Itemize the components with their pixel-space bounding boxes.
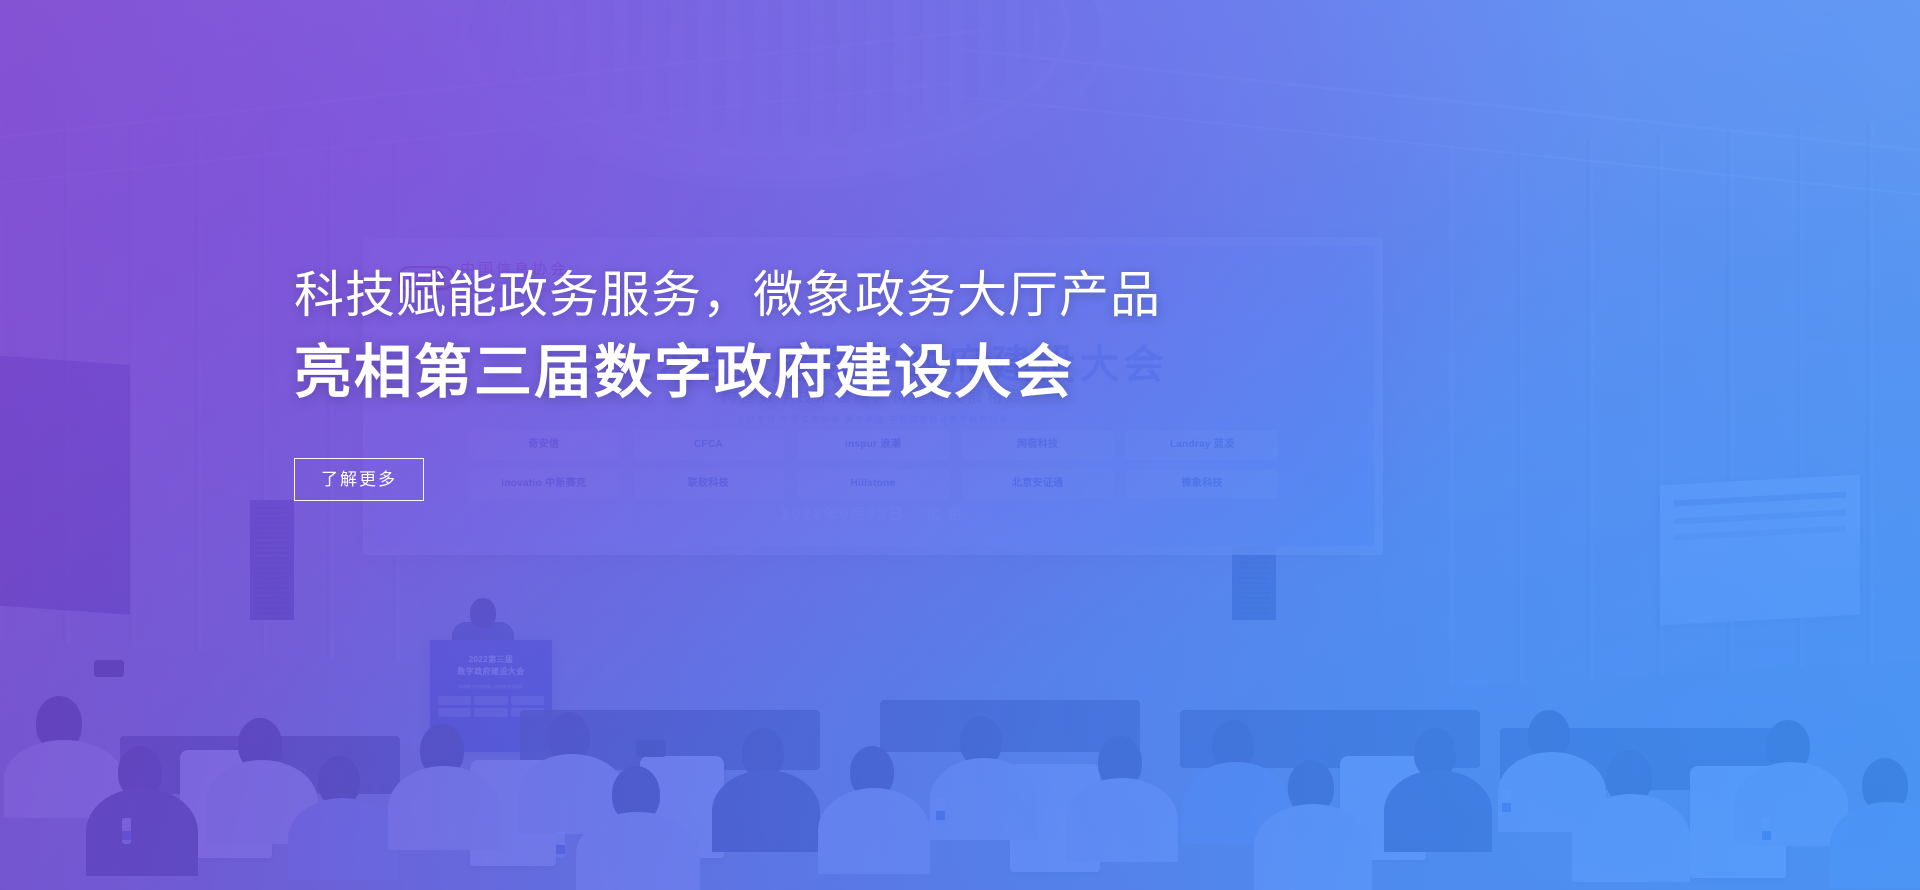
hero-title-line-1: 科技赋能政务服务，微象政务大厅产品	[294, 270, 1494, 320]
hero-content: 科技赋能政务服务，微象政务大厅产品 亮相第三届数字政府建设大会 了解更多	[294, 270, 1494, 501]
learn-more-button[interactable]: 了解更多	[294, 458, 424, 501]
hero-title-line-2: 亮相第三届数字政府建设大会	[294, 344, 1494, 402]
hero-banner: CIITA 中国信息协会 CHINA INFORMATION INDUSTRY …	[0, 0, 1920, 890]
